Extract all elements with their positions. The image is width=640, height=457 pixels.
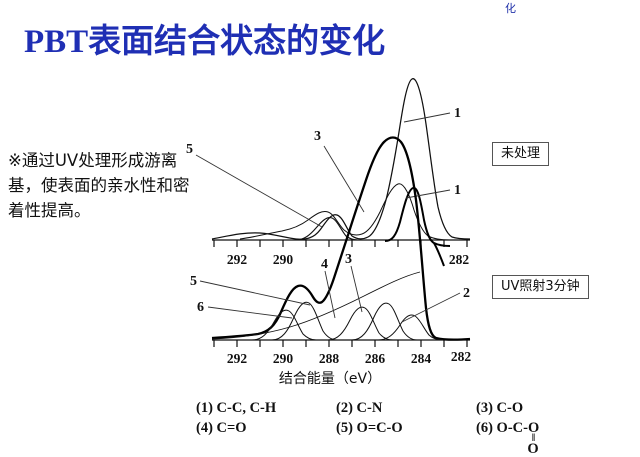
bottom-envelope-curve — [212, 138, 470, 340]
bottom-tick-282: 282 — [451, 349, 472, 364]
top-tick-282: 282 — [449, 252, 470, 267]
legend-item-2: (2) C-N — [336, 398, 476, 418]
legend-item-6: (6) O-C-O ‖ O — [476, 418, 616, 438]
legend-row: (1) C-C, C-H (2) C-N (3) C-O — [196, 398, 616, 418]
legend-num-2: (2) — [336, 400, 353, 416]
bottom-component-3 — [352, 303, 417, 340]
bottom-callout-3: 3 — [345, 252, 352, 267]
legend-num-4: (4) — [196, 420, 213, 436]
legend-item-5: (5) O=C-O — [336, 418, 476, 438]
bottom-axis-ticks — [214, 340, 467, 347]
slide-canvas: 化 PBT表面结合状态的变化 ※通过UV处理形成游离基，使表面的亲水性和密着性提… — [0, 0, 640, 456]
top-tick-290: 290 — [273, 252, 294, 267]
top-callout-1a: 1 — [454, 106, 461, 121]
bottom-tick-286: 286 — [365, 351, 386, 366]
legend-num-3: (3) — [476, 400, 493, 416]
top-panel-plot: 5 3 1 1 292 290 282 — [186, 79, 470, 267]
bottom-tick-284: 284 — [411, 351, 432, 366]
peak-assignment-legend: (1) C-C, C-H (2) C-N (3) C-O (4) C=O (5)… — [196, 398, 616, 438]
oxygen-atom-glyph: O — [522, 444, 544, 454]
top-axis-ticks — [214, 240, 467, 247]
bottom-baseline-component — [212, 272, 420, 339]
legend-formula-3: C-O — [497, 400, 524, 416]
xps-spectra-figure: 5 3 1 1 292 290 282 — [0, 0, 640, 456]
legend-formula-2: C-N — [357, 400, 383, 416]
legend-item-1: (1) C-C, C-H — [196, 398, 336, 418]
legend-item-6-carbonyl: ‖ O — [522, 434, 544, 454]
top-tick-292: 292 — [227, 252, 248, 267]
bottom-component-6 — [252, 310, 316, 340]
legend-formula-1: C-C, C-H — [217, 400, 277, 416]
legend-item-3: (3) C-O — [476, 398, 616, 418]
legend-formula-5: O=C-O — [357, 420, 403, 436]
x-axis-label: 结合能量（eV） — [279, 371, 381, 387]
bottom-callout-leaders — [200, 266, 460, 322]
legend-formula-4: C=O — [217, 420, 247, 436]
bottom-component-4 — [328, 307, 393, 340]
bottom-callout-6: 6 — [197, 300, 204, 315]
legend-num-1: (1) — [196, 400, 213, 416]
bottom-tick-290: 290 — [273, 351, 294, 366]
legend-item-4: (4) C=O — [196, 418, 336, 438]
legend-row: (4) C=O (5) O=C-O (6) O-C-O ‖ O — [196, 418, 616, 438]
legend-num-5: (5) — [336, 420, 353, 436]
bottom-callout-5: 5 — [190, 274, 197, 289]
top-callout-1b: 1 — [454, 183, 461, 198]
bottom-tick-288: 288 — [319, 351, 340, 366]
legend-num-6: (6) — [476, 420, 493, 436]
top-envelope-curve — [212, 79, 470, 240]
bottom-callout-2: 2 — [463, 286, 470, 301]
top-callout-5: 5 — [186, 142, 193, 157]
bottom-tick-292: 292 — [227, 351, 248, 366]
top-callout-3: 3 — [314, 129, 321, 144]
bottom-callout-4: 4 — [321, 257, 328, 272]
